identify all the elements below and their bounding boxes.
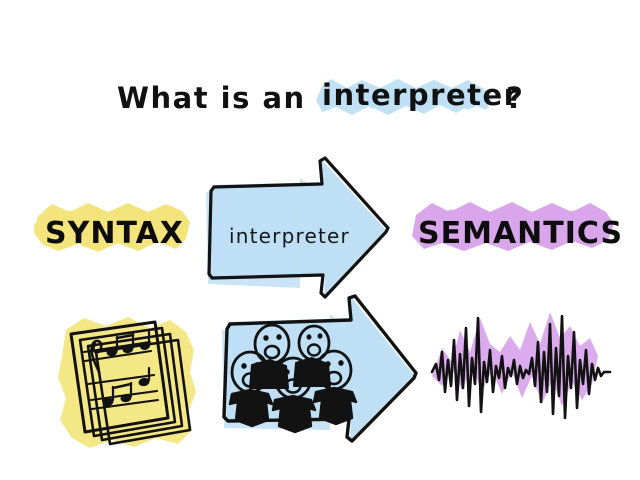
title-suffix: ? <box>506 81 524 115</box>
slide-canvas: What is an interpreter ? SYNTAX interpre… <box>0 0 640 480</box>
label-interpreter: interpreter <box>229 224 350 248</box>
label-syntax: SYNTAX <box>45 216 184 251</box>
title-prefix: What is an <box>117 81 306 115</box>
ink-layer: What is an interpreter ? SYNTAX interpre… <box>0 0 640 480</box>
choir-singers-icon <box>230 325 356 432</box>
title-highlighted-word: interpreter <box>322 78 519 112</box>
label-semantics: SEMANTICS <box>418 216 623 251</box>
sheet-music-stack-icon <box>71 322 190 444</box>
audio-waveform-icon <box>432 316 610 418</box>
page-title: What is an interpreter ? <box>117 78 524 115</box>
